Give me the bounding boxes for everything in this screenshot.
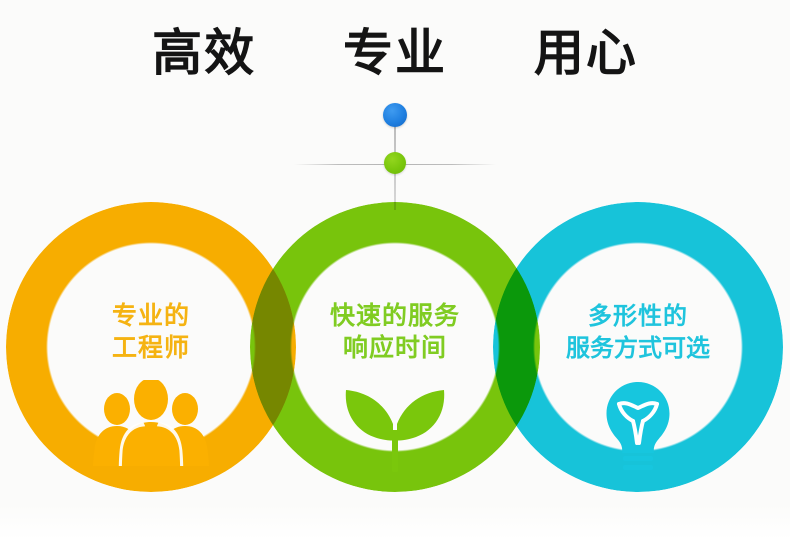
title-word-2: 专业	[343, 28, 447, 78]
title-word-1: 高效	[152, 28, 256, 78]
title-word-3: 用心	[534, 28, 638, 78]
infographic-canvas: 高效 专业 用心 专业的 工程师	[0, 0, 790, 557]
green-dot-icon	[384, 152, 406, 174]
circle-label-service-options-line1: 多形性的	[493, 300, 783, 332]
lightbulb-icon	[493, 380, 783, 492]
circle-content-service-options: 多形性的 服务方式可选	[493, 202, 783, 492]
circle-label-service-options-line2: 服务方式可选	[493, 332, 783, 364]
circle-label-service-options: 多形性的 服务方式可选	[493, 300, 783, 364]
connector-marker	[330, 100, 460, 210]
blue-dot-icon	[383, 103, 407, 127]
page-title: 高效 专业 用心	[0, 28, 790, 78]
